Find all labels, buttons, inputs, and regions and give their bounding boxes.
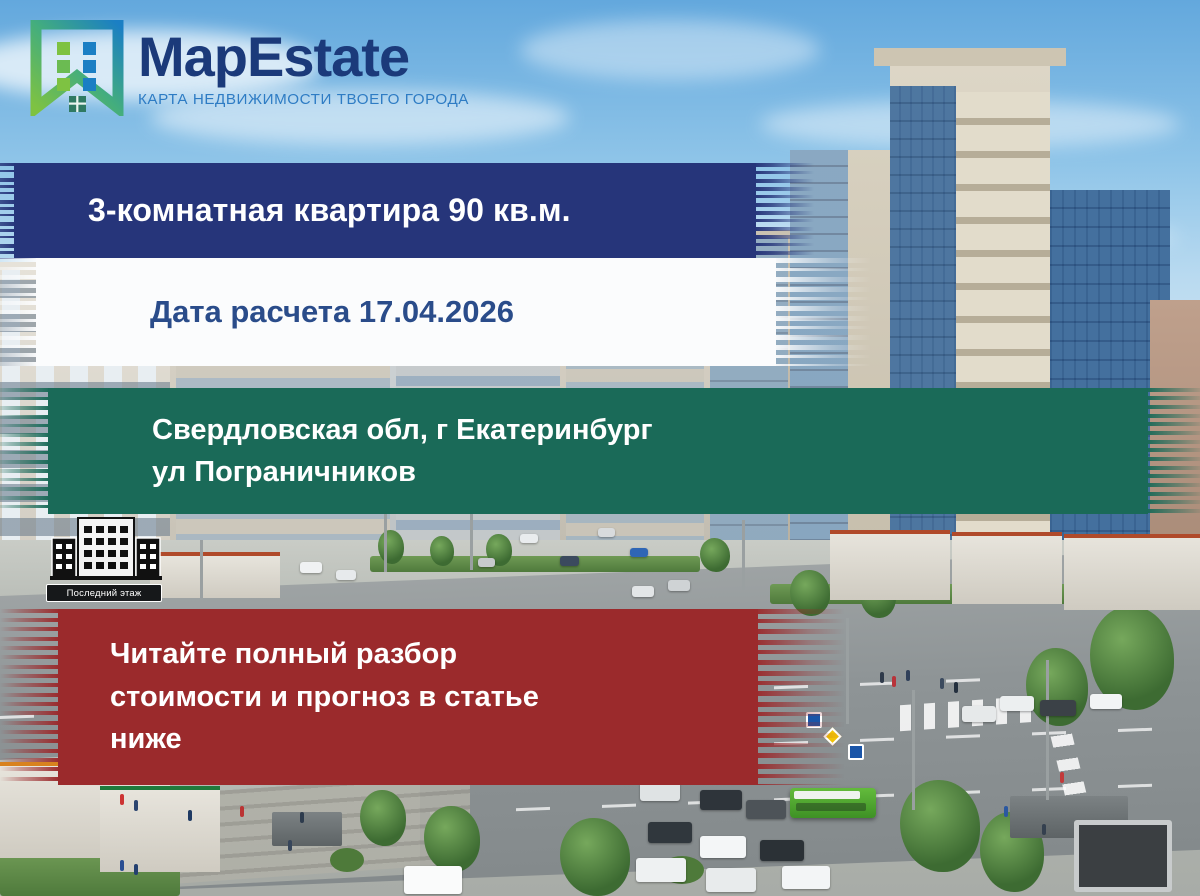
car: [706, 868, 756, 892]
tree: [700, 538, 730, 572]
pedestrian: [240, 806, 244, 817]
pedestrian: [906, 670, 910, 681]
pedestrian: [1060, 772, 1064, 783]
tree: [378, 530, 404, 564]
car: [478, 558, 495, 567]
shopfront: [952, 532, 1062, 604]
street-light: [912, 690, 915, 810]
tree: [360, 790, 406, 846]
car: [520, 534, 538, 543]
calculation-date-text: Дата расчета 17.04.2026: [36, 293, 514, 331]
pedestrian: [134, 864, 138, 875]
pedestrian: [300, 812, 304, 823]
street-light: [1046, 660, 1049, 800]
logo-text-block: MapEstate КАРТА НЕДВИЖИМОСТИ ТВОЕГО ГОРО…: [138, 29, 469, 108]
car: [632, 586, 654, 597]
mapestate-logo-icon: [30, 20, 124, 116]
brand-name: MapEstate: [138, 29, 469, 85]
address-banner: Свердловская обл, г Екатеринбург ул Погр…: [48, 388, 1148, 514]
car: [782, 866, 830, 889]
pedestrian: [288, 840, 292, 851]
cta-banner[interactable]: Читайте полный разбор стоимости и прогно…: [58, 609, 758, 785]
property-title-text: 3-комнатная квартира 90 кв.м.: [14, 191, 571, 230]
pedestrian: [1042, 824, 1046, 835]
van: [404, 866, 462, 894]
street-light: [200, 540, 203, 598]
pedestrian: [880, 672, 884, 683]
car: [300, 562, 322, 573]
address-text: Свердловская обл, г Екатеринбург ул Погр…: [48, 409, 653, 493]
cloud: [520, 20, 820, 80]
shopfront: [830, 530, 950, 600]
pedestrian: [954, 682, 958, 693]
window-icon: [69, 96, 86, 112]
bus-shelter: [272, 812, 342, 846]
car: [648, 822, 692, 843]
property-title-banner: 3-комнатная квартира 90 кв.м.: [14, 163, 756, 259]
cta-text: Читайте полный разбор стоимости и прогно…: [58, 633, 539, 762]
car: [598, 528, 615, 537]
street-light: [846, 618, 849, 724]
pedestrian: [940, 678, 944, 689]
watermark-label: Последний этаж: [46, 584, 162, 602]
pedestrian: [120, 860, 124, 871]
pedestrian: [120, 794, 124, 805]
car: [630, 548, 648, 557]
calculation-date-banner: Дата расчета 17.04.2026: [36, 258, 776, 366]
pedestrian: [1004, 806, 1008, 817]
median-greenery: [370, 556, 700, 572]
car: [700, 836, 746, 858]
building-icon: [46, 512, 166, 584]
street-light: [742, 520, 745, 590]
city-bus: [790, 788, 876, 818]
shopfront: [150, 552, 280, 598]
car: [962, 706, 996, 722]
pedestrian: [134, 800, 138, 811]
car: [746, 800, 786, 819]
poster-canvas: Последний этаж: [0, 0, 1200, 896]
tree: [424, 806, 480, 872]
pedestrian: [892, 676, 896, 687]
shopfront: [100, 786, 220, 872]
tree: [560, 818, 630, 896]
car: [1000, 696, 1034, 711]
watermark: Последний этаж: [46, 512, 166, 602]
brand-tagline: КАРТА НЕДВИЖИМОСТИ ТВОЕГО ГОРОДА: [138, 91, 469, 108]
tree: [430, 536, 454, 566]
car: [700, 790, 742, 810]
shopfront: [1064, 534, 1200, 610]
car: [760, 840, 804, 861]
brand-logo[interactable]: MapEstate КАРТА НЕДВИЖИМОСТИ ТВОЕГО ГОРО…: [30, 18, 469, 118]
car: [668, 580, 690, 591]
car: [560, 556, 579, 566]
car: [336, 570, 356, 580]
car: [1040, 700, 1076, 716]
pedestrian: [188, 810, 192, 821]
billboard: [1074, 820, 1172, 892]
car: [1090, 694, 1122, 709]
traffic-sign: [848, 744, 864, 760]
bush: [330, 848, 364, 872]
car: [636, 858, 686, 882]
